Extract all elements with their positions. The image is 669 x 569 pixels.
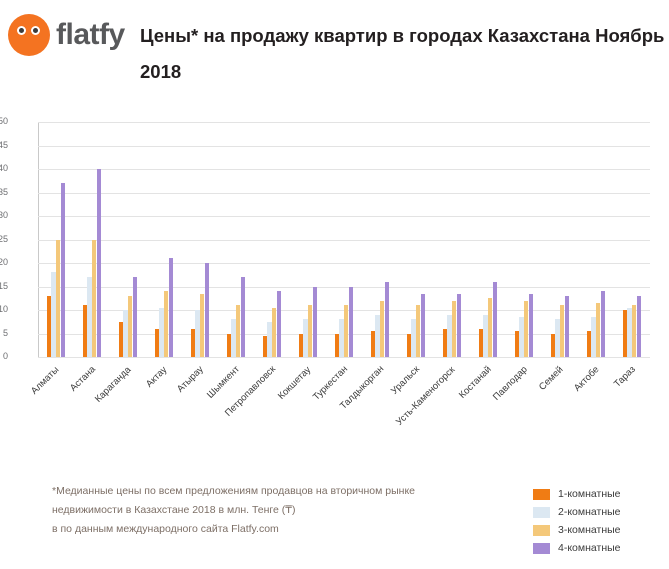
legend-item: 2-комнатные	[533, 504, 621, 520]
bar-group	[299, 122, 318, 357]
bar	[164, 291, 168, 357]
y-axis-tick-label: 30	[0, 210, 8, 220]
bar	[236, 305, 240, 357]
legend-item: 3-комнатные	[533, 522, 621, 538]
y-axis-tick-label: 20	[0, 257, 8, 267]
bar	[277, 291, 281, 357]
bar-chart: 05101520253035404550 АлматыАстанаКараган…	[0, 104, 669, 474]
legend-swatch	[533, 543, 550, 554]
bar-group	[551, 122, 570, 357]
bar	[241, 277, 245, 357]
bar	[344, 305, 348, 357]
bar	[375, 315, 379, 357]
bar-group	[371, 122, 390, 357]
bar	[411, 319, 415, 357]
bar	[483, 315, 487, 357]
bar	[457, 294, 461, 357]
x-axis-tick-label: Шымкент	[205, 364, 242, 401]
bar	[601, 291, 605, 357]
bar	[637, 296, 641, 357]
y-axis-tick-label: 35	[0, 187, 8, 197]
bar-group	[191, 122, 210, 357]
y-axis-tick-label: 50	[0, 116, 8, 126]
bar-group	[587, 122, 606, 357]
bar	[385, 282, 389, 357]
bars-layer	[38, 122, 650, 357]
bar	[133, 277, 137, 357]
bar	[267, 322, 271, 357]
logo-text: flatfy	[56, 18, 125, 52]
x-axis-tick-label: Кокшетау	[276, 364, 313, 401]
bar	[335, 334, 339, 358]
bar	[555, 319, 559, 357]
legend-swatch	[533, 525, 550, 536]
y-axis-tick-label: 0	[0, 351, 8, 361]
x-axis-tick-label: Астана	[68, 364, 98, 394]
bar	[529, 294, 533, 357]
x-axis-tick-label: Уральск	[389, 364, 422, 397]
bar	[443, 329, 447, 357]
bar	[349, 287, 353, 358]
bar	[169, 258, 173, 357]
page-title: Цены* на продажу квартир в городах Казах…	[140, 18, 665, 90]
flatfy-logo: flatfy	[8, 14, 125, 56]
x-axis-tick-label: Тараз	[612, 364, 638, 390]
bar-group	[443, 122, 462, 357]
bar	[191, 329, 195, 357]
x-axis-tick-label: Семей	[537, 364, 565, 392]
legend-label: 1-комнатные	[558, 488, 621, 500]
bar-group	[83, 122, 102, 357]
bar	[627, 308, 631, 357]
bar	[200, 294, 204, 357]
bar	[421, 294, 425, 357]
bar	[97, 169, 101, 357]
bar-group	[47, 122, 66, 357]
bar	[488, 298, 492, 357]
chart-legend: 1-комнатные2-комнатные3-комнатные4-комна…	[533, 486, 621, 558]
bar	[155, 329, 159, 357]
bar	[407, 334, 411, 358]
y-axis-tick-label: 10	[0, 304, 8, 314]
bar	[303, 319, 307, 357]
bar	[61, 183, 65, 357]
bar	[272, 308, 276, 357]
bar	[565, 296, 569, 357]
bar	[263, 336, 267, 357]
bar	[587, 331, 591, 357]
legend-swatch	[533, 489, 550, 500]
footnote-line-3: в по данным международного сайта Flatfy.…	[52, 520, 492, 539]
bar-group	[155, 122, 174, 357]
bar	[195, 310, 199, 357]
y-axis-tick-label: 25	[0, 234, 8, 244]
y-axis-tick-label: 40	[0, 163, 8, 173]
bar	[87, 277, 91, 357]
x-axis-tick-label: Актау	[144, 364, 169, 389]
bar	[632, 305, 636, 357]
bar	[227, 334, 231, 358]
page-header: flatfy Цены* на продажу квартир в города…	[0, 0, 669, 100]
grid-line	[38, 357, 650, 358]
bar	[313, 287, 317, 358]
bar	[51, 272, 55, 357]
bar	[515, 331, 519, 357]
bar	[479, 329, 483, 357]
legend-label: 4-комнатные	[558, 542, 621, 554]
bar	[92, 240, 96, 358]
x-axis-labels: АлматыАстанаКарагандаАктауАтырауШымкентП…	[38, 360, 650, 470]
x-axis-tick-label: Актобе	[572, 364, 602, 394]
bar	[416, 305, 420, 357]
bar	[83, 305, 87, 357]
bar	[447, 315, 451, 357]
bar	[524, 301, 528, 357]
bar	[308, 305, 312, 357]
bar	[119, 322, 123, 357]
bar	[56, 240, 60, 358]
bar	[452, 301, 456, 357]
x-axis-tick-label: Костанай	[457, 364, 494, 401]
x-axis-tick-label: Атырау	[175, 364, 206, 395]
bar	[596, 303, 600, 357]
bar-group	[479, 122, 498, 357]
bar-group	[335, 122, 354, 357]
footnote-line-2: недвижимости в Казахстане 2018 в млн. Те…	[52, 501, 492, 520]
bar	[371, 331, 375, 357]
bar-group	[515, 122, 534, 357]
y-axis-tick-label: 45	[0, 140, 8, 150]
legend-item: 1-комнатные	[533, 486, 621, 502]
y-axis-tick-label: 5	[0, 328, 8, 338]
logo-eye-right-icon	[31, 26, 40, 35]
bar	[159, 308, 163, 357]
bar	[339, 319, 343, 357]
bar-group	[263, 122, 282, 357]
bar	[123, 310, 127, 357]
bar	[519, 317, 523, 357]
bar-group	[623, 122, 642, 357]
bar-group	[227, 122, 246, 357]
x-axis-tick-label: Алматы	[29, 364, 61, 396]
bar	[623, 310, 627, 357]
bar	[591, 317, 595, 357]
logo-eye-left-icon	[17, 26, 26, 35]
bar	[380, 301, 384, 357]
bar	[551, 334, 555, 358]
legend-item: 4-комнатные	[533, 540, 621, 556]
x-axis-tick-label: Павлодар	[491, 364, 530, 403]
footnote-line-1: *Медианные цены по всем предложениям про…	[52, 482, 492, 501]
bar	[128, 296, 132, 357]
legend-label: 2-комнатные	[558, 506, 621, 518]
bar	[231, 319, 235, 357]
flatfy-face-icon	[8, 14, 50, 56]
footnote: *Медианные цены по всем предложениям про…	[52, 482, 492, 539]
bar-group	[119, 122, 138, 357]
legend-swatch	[533, 507, 550, 518]
bar	[47, 296, 51, 357]
bar	[560, 305, 564, 357]
x-axis-tick-label: Караганда	[93, 364, 133, 404]
bar	[493, 282, 497, 357]
legend-label: 3-комнатные	[558, 524, 621, 536]
bar	[299, 334, 303, 358]
y-axis-tick-label: 15	[0, 281, 8, 291]
bar-group	[407, 122, 426, 357]
bar	[205, 263, 209, 357]
